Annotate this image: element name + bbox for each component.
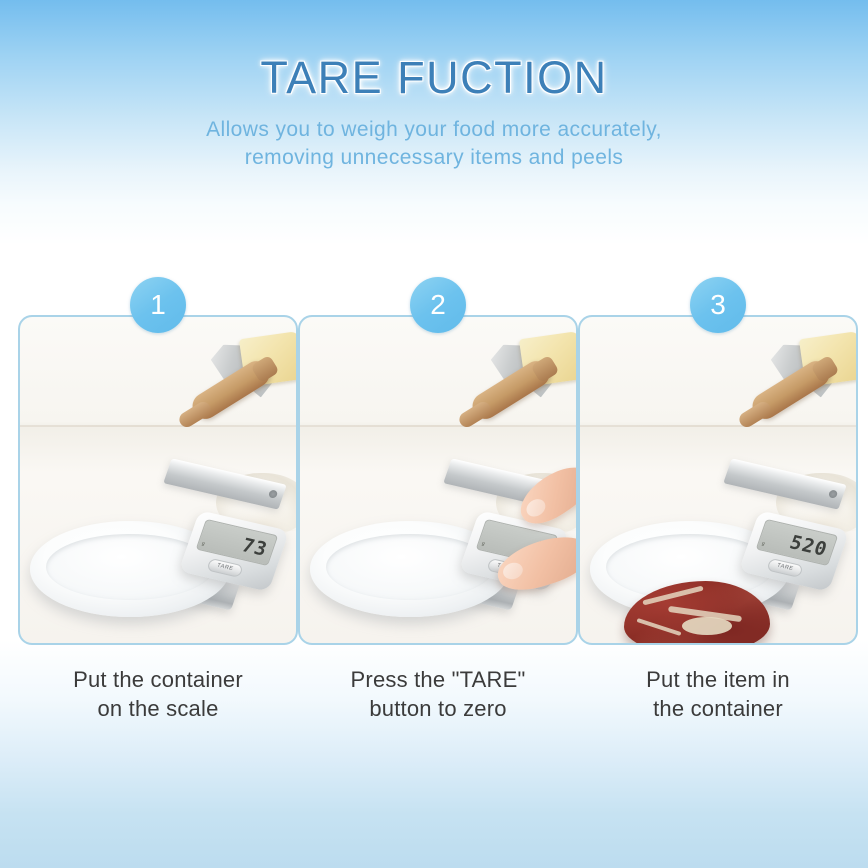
- steak-marbling: [637, 618, 682, 636]
- lcd-display-3: g 520: [756, 519, 839, 566]
- lcd-display-1: g 73: [196, 519, 279, 566]
- rolling-pin-icon: [462, 335, 578, 440]
- tare-button[interactable]: TARE: [206, 558, 243, 578]
- rolling-pin-icon: [182, 335, 298, 440]
- fingernail: [501, 560, 525, 581]
- caption-line-2: on the scale: [18, 694, 298, 723]
- step-3: 3: [578, 315, 858, 723]
- lcd-weight-value: 73: [238, 531, 271, 563]
- kitchen-scale-1: g 73 TARE: [20, 433, 298, 643]
- subtitle-line-1: Allows you to weigh your food more accur…: [0, 116, 868, 144]
- scale-post: [163, 458, 286, 509]
- step-caption-2: Press the "TARE" button to zero: [298, 665, 578, 723]
- steps-row: 1: [18, 315, 850, 723]
- lcd-unit-label: g: [481, 541, 486, 547]
- scale-post: [723, 458, 846, 509]
- step-1: 1: [18, 315, 298, 723]
- step-2: 2: [298, 315, 578, 723]
- steak-fat-cap: [682, 617, 732, 635]
- caption-line-1: Put the container: [18, 665, 298, 694]
- rolling-pin-icon: [742, 335, 858, 440]
- page-title: TARE FUCTION: [0, 52, 868, 104]
- kitchen-scale-2: g 0 TARE: [300, 433, 578, 643]
- subtitle-line-2: removing unnecessary items and peels: [0, 144, 868, 172]
- step-photo-1: g 73 TARE: [18, 315, 298, 645]
- lcd-unit-label: g: [201, 541, 206, 547]
- kitchen-scale-3: g 520 TARE: [580, 433, 858, 643]
- step-caption-1: Put the container on the scale: [18, 665, 298, 723]
- tare-function-infographic: TARE FUCTION Allows you to weigh your fo…: [0, 0, 868, 868]
- step-photo-3: g 520 TARE: [578, 315, 858, 645]
- caption-line-2: button to zero: [298, 694, 578, 723]
- lcd-unit-label: g: [761, 541, 766, 547]
- step-photo-2: g 0 TARE: [298, 315, 578, 645]
- page-subtitle: Allows you to weigh your food more accur…: [0, 116, 868, 172]
- header: TARE FUCTION Allows you to weigh your fo…: [0, 0, 868, 172]
- step-caption-3: Put the item in the container: [578, 665, 858, 723]
- lcd-weight-value: 520: [786, 529, 832, 564]
- fingernail: [523, 496, 549, 520]
- caption-line-1: Put the item in: [578, 665, 858, 694]
- caption-line-1: Press the "TARE": [298, 665, 578, 694]
- step-number-badge-2: 2: [410, 277, 466, 333]
- step-number-badge-3: 3: [690, 277, 746, 333]
- tare-button[interactable]: TARE: [766, 558, 803, 578]
- step-number-badge-1: 1: [130, 277, 186, 333]
- caption-line-2: the container: [578, 694, 858, 723]
